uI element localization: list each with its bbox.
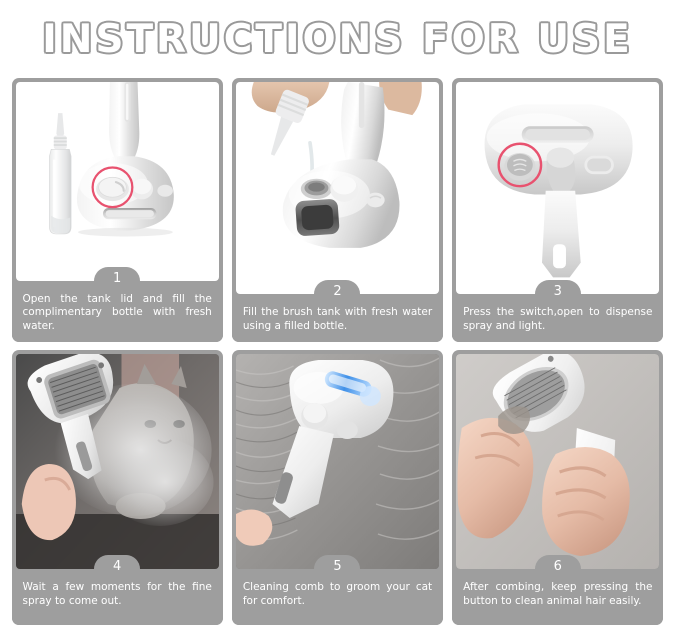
step-number-badge-3: 3 <box>535 280 581 307</box>
page-title-container: INSTRUCTIONS FOR USE <box>0 0 675 78</box>
step-6-caption-text: After combing, keep pressing the button … <box>463 581 652 607</box>
step-5-caption-bar: 5 Cleaning comb to groom your cat for co… <box>232 569 443 625</box>
step-6-photo <box>456 354 659 569</box>
step-3-caption-bar: 3 Press the switch,open to dispense spra… <box>452 294 663 342</box>
step-4-caption-text: Wait a few moments for the fine spray to… <box>23 581 212 607</box>
step-number-badge-6: 6 <box>535 555 581 582</box>
step-4-caption-bar: 4 Wait a few moments for the fine spray … <box>12 569 223 625</box>
step-3-caption-text: Press the switch,open to dispense spray … <box>463 306 652 332</box>
step-number-badge-2: 2 <box>314 280 360 307</box>
step-4-photo <box>16 354 219 569</box>
step-1-illustration <box>16 82 219 281</box>
step-number-badge-1: 1 <box>94 267 140 294</box>
step-1-caption-text: Open the tank lid and fill the complimen… <box>23 293 212 332</box>
instruction-sheet: INSTRUCTIONS FOR USE <box>0 0 675 639</box>
step-2-caption-text: Fill the brush tank with fresh water usi… <box>243 306 432 332</box>
pouring-water-into-tank-art <box>236 82 439 294</box>
step-panel-6: 6 After combing, keep pressing the butto… <box>452 350 663 625</box>
brush-on-fur-photo-art <box>236 354 439 569</box>
spraying-cat-photo-art <box>16 354 219 569</box>
hands-cleaning-brush-photo-art <box>456 354 659 569</box>
step-number-badge-4: 4 <box>94 555 140 582</box>
step-1-caption-bar: 1 Open the tank lid and fill the complim… <box>12 281 223 343</box>
page-title: INSTRUCTIONS FOR USE <box>42 17 633 62</box>
step-number-badge-5: 5 <box>314 555 360 582</box>
step-6-caption-bar: 6 After combing, keep pressing the butto… <box>452 569 663 625</box>
step-2-caption-bar: 2 Fill the brush tank with fresh water u… <box>232 294 443 342</box>
bottle-and-brush-base-art <box>16 82 219 281</box>
step-panel-2: 2 Fill the brush tank with fresh water u… <box>232 78 443 342</box>
step-5-caption-text: Cleaning comb to groom your cat for comf… <box>243 581 432 607</box>
step-panel-1: 1 Open the tank lid and fill the complim… <box>12 78 223 342</box>
step-panel-4: 4 Wait a few moments for the fine spray … <box>12 350 223 625</box>
brush-head-switch-art <box>456 82 659 294</box>
steps-grid: 1 Open the tank lid and fill the complim… <box>12 78 664 625</box>
step-2-illustration <box>236 82 439 294</box>
step-3-illustration <box>456 82 659 294</box>
step-panel-5: 5 Cleaning comb to groom your cat for co… <box>232 350 443 625</box>
step-5-photo <box>236 354 439 569</box>
step-panel-3: 3 Press the switch,open to dispense spra… <box>452 78 663 342</box>
